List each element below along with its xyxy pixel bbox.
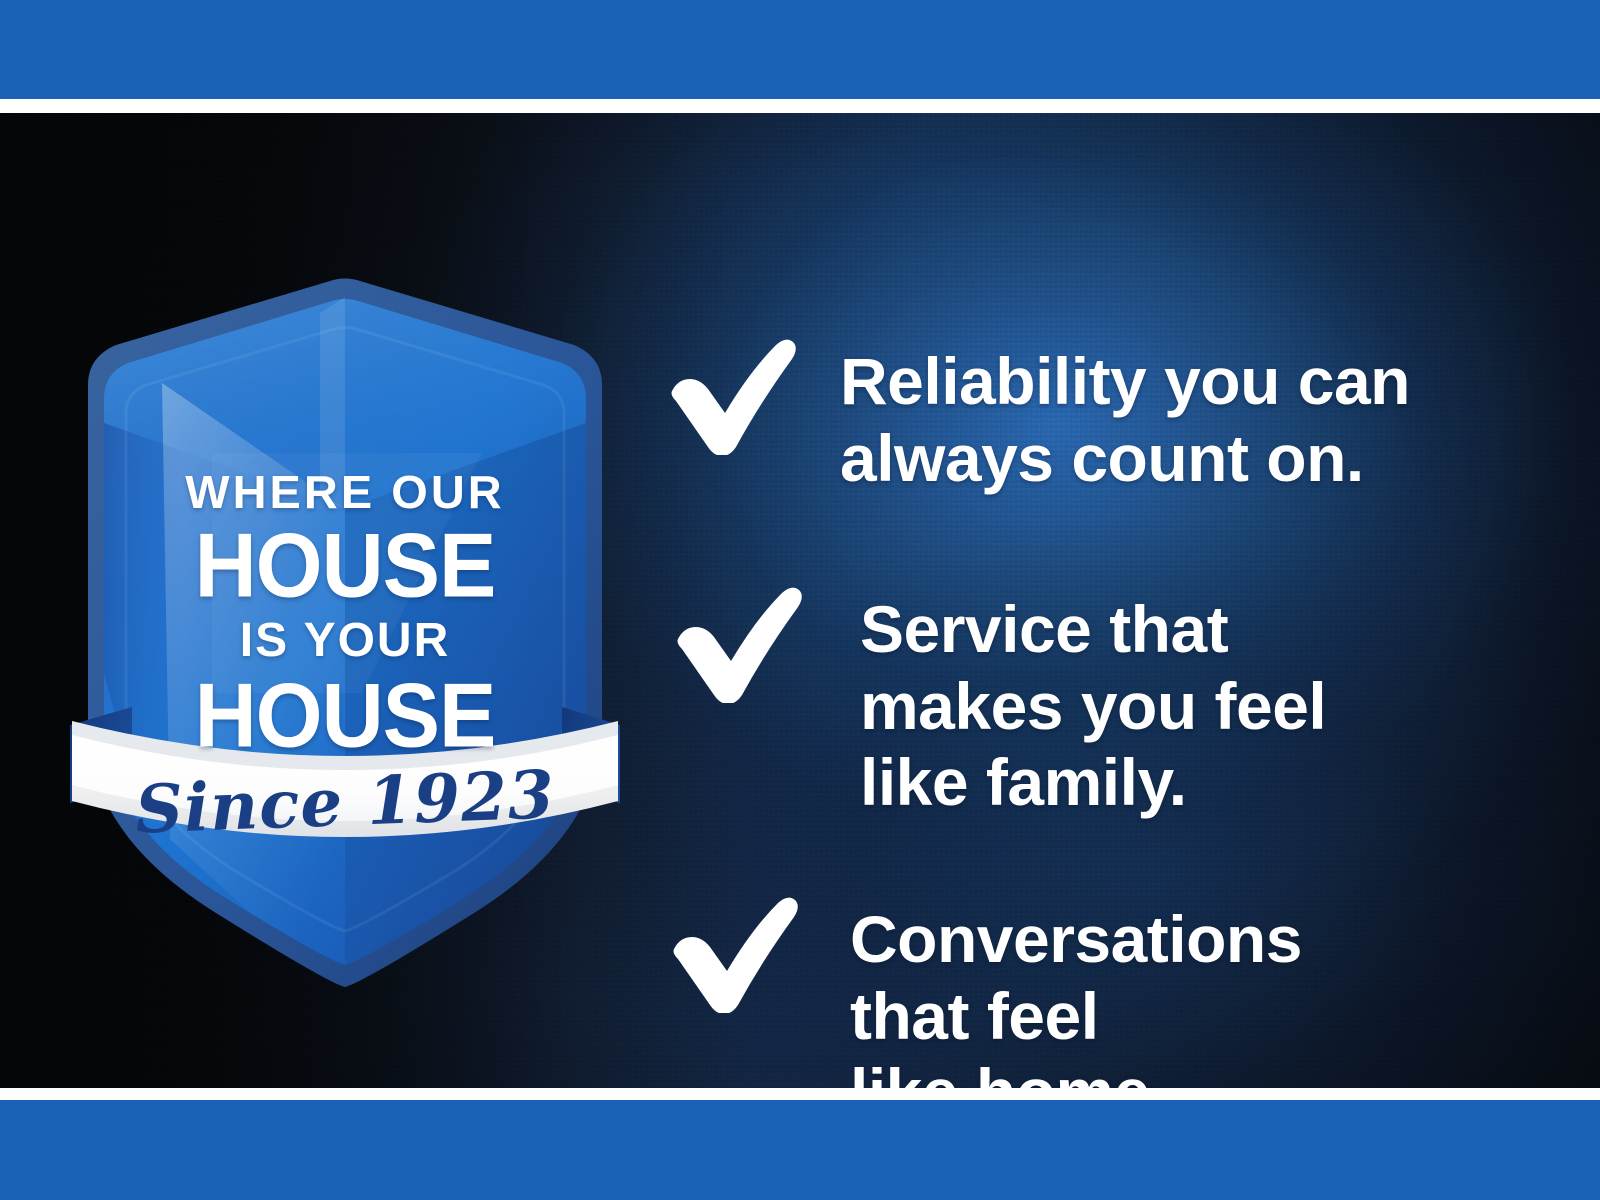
list-item: Conversations that feel like home. <box>670 893 1302 1088</box>
bottom-brand-bar <box>0 1100 1600 1200</box>
checkmark-icon <box>674 583 804 703</box>
checkmark-icon <box>670 893 800 1013</box>
promo-poster: WHERE OUR HOUSE IS YOUR HOUSE Since 1923… <box>0 0 1600 1200</box>
badge-ribbon-text: Since 1923 <box>61 759 629 846</box>
poster-stage: WHERE OUR HOUSE IS YOUR HOUSE Since 1923… <box>0 113 1600 1088</box>
top-brand-bar <box>0 0 1600 99</box>
shield-badge: WHERE OUR HOUSE IS YOUR HOUSE Since 1923 <box>62 273 628 933</box>
list-item: Service that makes you feel like family. <box>674 583 1326 821</box>
checkmark-icon <box>668 335 798 455</box>
list-item: Reliability you can always count on. <box>668 335 1410 496</box>
list-item-label: Reliability you can always count on. <box>840 335 1410 496</box>
list-item-label: Conversations that feel like home. <box>850 893 1302 1088</box>
list-item-label: Service that makes you feel like family. <box>860 583 1326 821</box>
